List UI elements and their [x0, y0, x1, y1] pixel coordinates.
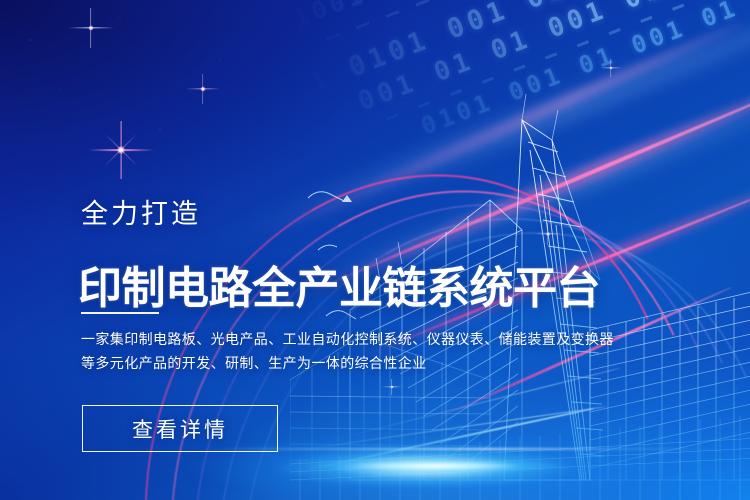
hero-banner: 01 001 01 01 001 01 0101 01 001 0101 01 …	[0, 0, 750, 500]
description-line-2: 等多元化产品的开发、研制、生产为一体的综合性企业	[81, 351, 581, 375]
title-divider	[81, 312, 159, 314]
description-line-1: 一家集印制电路板、光电产品、工业自动化控制系统、仪器仪表、储能装置及变换器	[81, 327, 581, 351]
hero-content: 全力打造 印制电路全产业链系统平台 一家集印制电路板、光电产品、工业自动化控制系…	[0, 0, 750, 500]
view-details-button[interactable]: 查看详情	[82, 405, 278, 452]
page-title: 印制电路全产业链系统平台	[78, 264, 600, 314]
description-text: 一家集印制电路板、光电产品、工业自动化控制系统、仪器仪表、储能装置及变换器 等多…	[81, 327, 581, 375]
eyebrow-text: 全力打造	[81, 198, 201, 230]
